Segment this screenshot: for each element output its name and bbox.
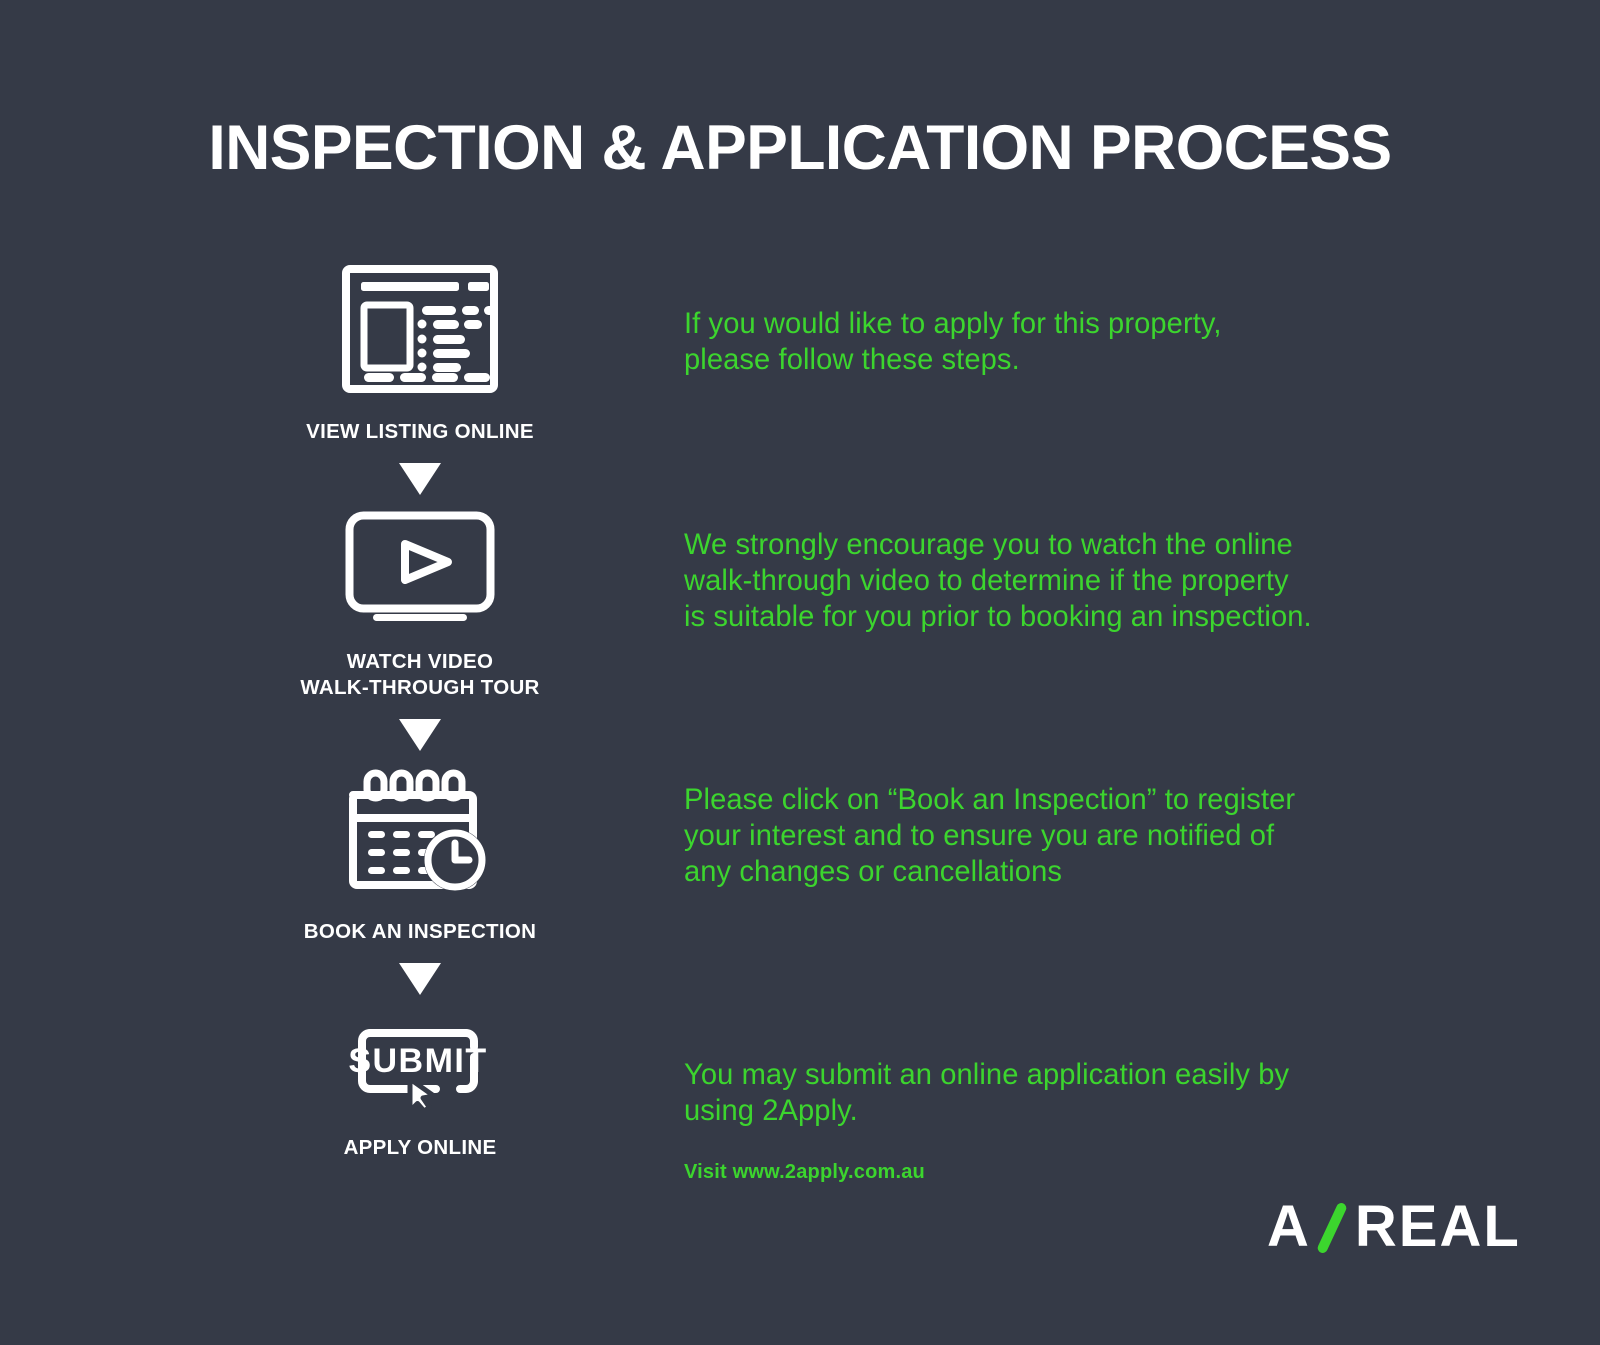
step-watch-video: WATCH VIDEO WALK-THROUGH TOUR: [265, 511, 575, 701]
video-play-icon: [265, 511, 575, 623]
logo-letter-a: A: [1267, 1198, 1311, 1256]
copy-book-inspection: Please click on “Book an Inspection” to …: [684, 782, 1382, 890]
copy-apply-online: You may submit an online application eas…: [684, 1057, 1382, 1129]
step-label-view-listing: VIEW LISTING ONLINE: [265, 419, 575, 445]
step-label-book-inspection: BOOK AN INSPECTION: [265, 919, 575, 945]
calendar-clock-icon: [265, 765, 575, 895]
infographic-page: INSPECTION & APPLICATION PROCESS: [0, 0, 1600, 1345]
logo-word-real: REAL: [1355, 1198, 1521, 1256]
flow-arrow-down-icon: [265, 463, 575, 495]
step-view-listing-online: VIEW LISTING ONLINE: [265, 265, 575, 445]
brand-logo: A REAL: [1267, 1196, 1521, 1258]
flow-arrow-down-icon-3: [265, 963, 575, 995]
copy-view-listing: If you would like to apply for this prop…: [684, 306, 1363, 378]
copy-watch-video: We strongly encourage you to watch the o…: [684, 527, 1421, 635]
flow-arrow-down-icon-2: [265, 719, 575, 751]
process-flow: VIEW LISTING ONLINE WATCH VIDEO WALK-THR…: [265, 265, 575, 1161]
browser-listing-icon: [265, 265, 575, 393]
step-label-apply-online: APPLY ONLINE: [265, 1135, 575, 1161]
submit-button-cursor-icon: SUBMIT: [265, 1011, 575, 1111]
page-title: INSPECTION & APPLICATION PROCESS: [8, 112, 1592, 184]
step-label-watch-video: WATCH VIDEO WALK-THROUGH TOUR: [265, 649, 575, 701]
visit-url-text[interactable]: Visit www.2apply.com.au: [684, 1161, 925, 1184]
slash-icon: [1315, 1199, 1353, 1255]
step-apply-online: SUBMIT APPLY ONLINE: [265, 1011, 575, 1161]
submit-icon-text: SUBMIT: [348, 1042, 487, 1080]
step-book-inspection: BOOK AN INSPECTION: [265, 765, 575, 945]
